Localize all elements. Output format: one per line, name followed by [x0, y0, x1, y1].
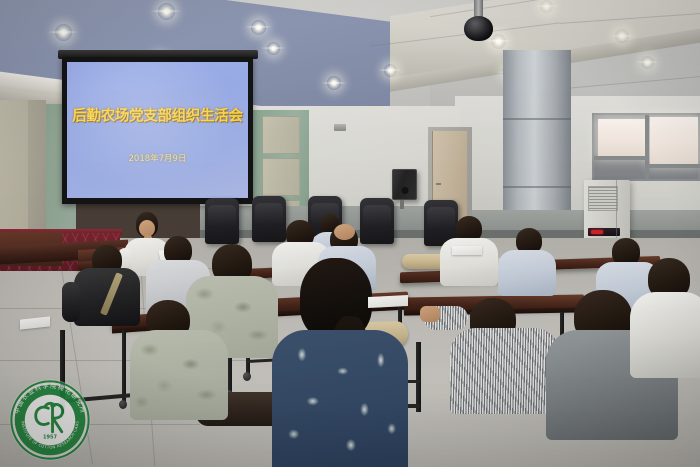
ceiling-downlight	[540, 0, 553, 13]
executive-chair[interactable]	[252, 196, 286, 242]
arm	[62, 282, 80, 322]
ceiling-downlight	[641, 56, 654, 69]
chair-leg	[416, 342, 421, 412]
dome-camera-icon	[474, 0, 483, 22]
wall-inset-panel	[262, 116, 300, 154]
ceiling-downlight	[615, 29, 629, 43]
ceiling-downlight	[158, 3, 175, 20]
wall-left-panel	[0, 100, 30, 250]
desk-caster	[119, 400, 127, 409]
hand	[420, 306, 440, 322]
column-ring	[503, 186, 571, 188]
column-ring	[503, 118, 571, 120]
document-papers[interactable]	[452, 246, 482, 255]
air-conditioner-grille	[588, 186, 618, 211]
scalp	[334, 224, 355, 240]
window-mullion	[645, 115, 649, 181]
speaker-bracket	[400, 200, 404, 209]
torso	[272, 330, 408, 467]
ceiling-downlight	[327, 76, 341, 90]
ceiling-downlight	[55, 24, 72, 41]
wall-inset-panel	[262, 158, 300, 196]
door-handle[interactable]	[436, 183, 441, 185]
torso	[498, 250, 556, 296]
conference-room-photo: 后勤农场党支部组织生活会 2018年7月9日	[0, 0, 700, 467]
desk-caster	[243, 372, 251, 381]
torso	[450, 328, 560, 414]
ceiling-downlight	[491, 34, 506, 49]
document-papers[interactable]	[368, 295, 408, 308]
executive-chair[interactable]	[360, 198, 394, 244]
logo-year: 1957	[43, 434, 58, 440]
wall-fixture	[334, 124, 346, 131]
torso	[630, 292, 700, 378]
wall-speaker-icon	[392, 169, 417, 200]
ceiling-downlight	[267, 42, 280, 55]
window-pane	[598, 119, 645, 157]
ceiling-downlight	[251, 20, 266, 35]
window-mullion	[594, 156, 648, 160]
institute-of-cotton-research-logo: 中国农业科学院棉花研究所 INSTITUTE OF COTTON RESEARC…	[8, 378, 92, 462]
torso	[130, 330, 228, 420]
window-mullion	[648, 164, 700, 168]
desk-leg	[122, 330, 126, 402]
slide-date: 2018年7月9日	[67, 152, 248, 164]
projection-screen: 后勤农场党支部组织生活会 2018年7月9日	[62, 57, 253, 204]
projection-screen-surface: 后勤农场党支部组织生活会 2018年7月9日	[67, 62, 248, 198]
slide-title: 后勤农场党支部组织生活会	[67, 105, 248, 126]
window-pane	[650, 117, 698, 165]
ceiling-downlight	[384, 64, 397, 77]
executive-chair[interactable]	[205, 198, 239, 244]
